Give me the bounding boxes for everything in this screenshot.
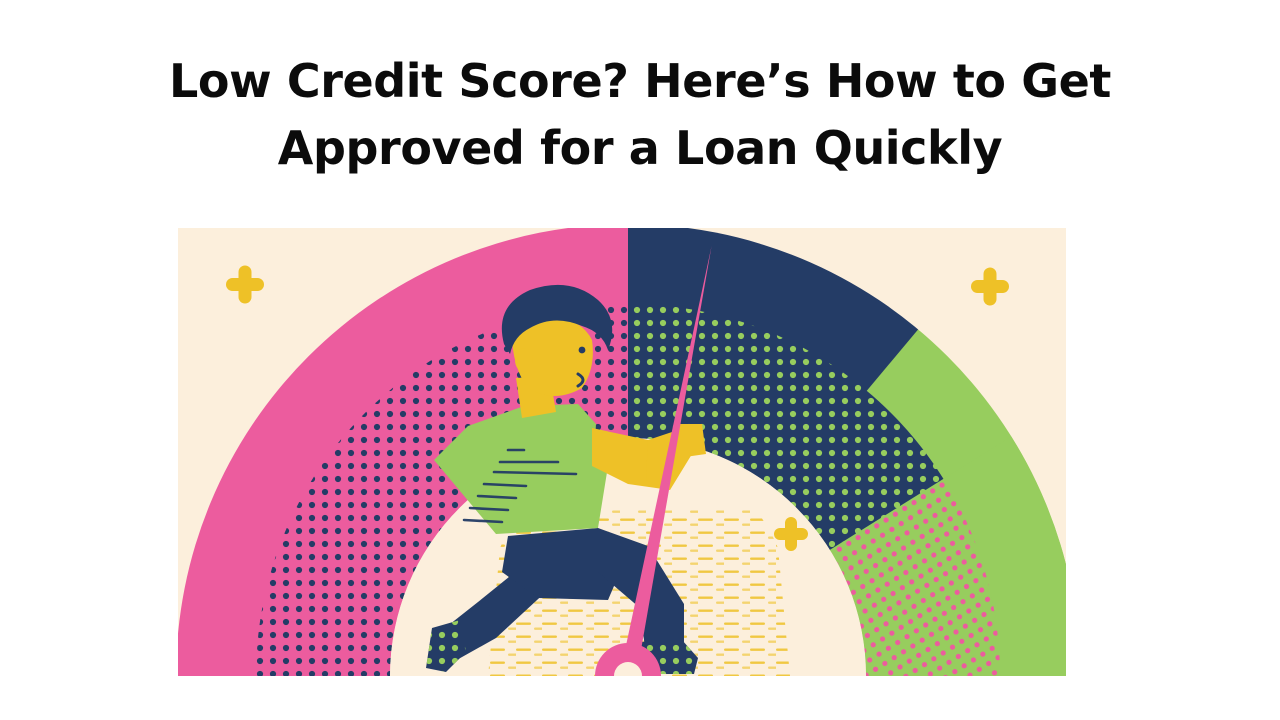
page-title: Low Credit Score? Here’s How to Get Appr…	[0, 45, 1280, 186]
credit-gauge-illustration	[178, 228, 1066, 676]
gauge-illustration-canvas	[178, 228, 1066, 676]
character-ear	[515, 348, 533, 372]
page-title-line-1: Low Credit Score? Here’s How to Get	[150, 45, 1130, 119]
character-eye	[579, 347, 586, 354]
character-hand	[676, 424, 706, 458]
page-title-line-2: Approved for a Loan Quickly	[150, 112, 1130, 186]
